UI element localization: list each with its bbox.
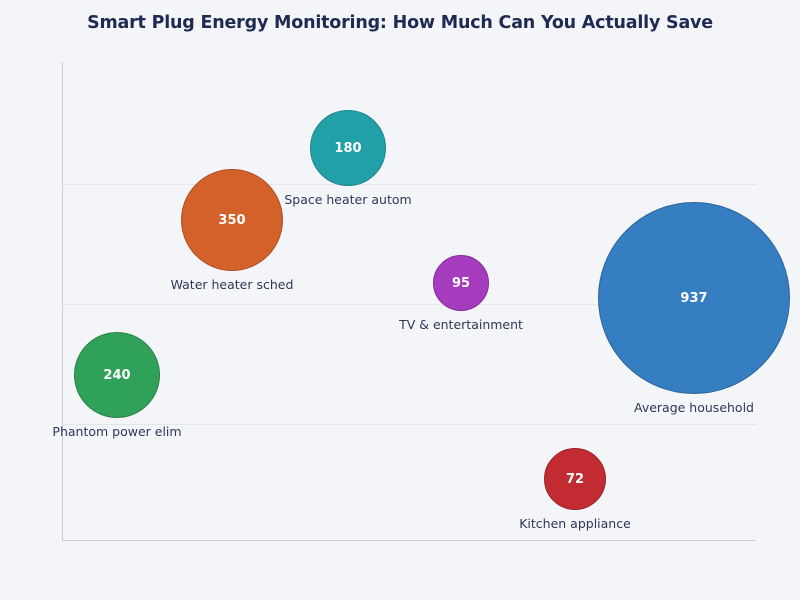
bubble[interactable]: 72	[544, 448, 606, 510]
bubble-value: 240	[103, 369, 130, 382]
bubble-chart: Smart Plug Energy Monitoring: How Much C…	[0, 0, 800, 600]
bubble[interactable]: 180	[310, 110, 386, 186]
bubble[interactable]: 95	[433, 255, 489, 311]
bubble-value: 180	[334, 142, 361, 155]
bubble-value: 95	[452, 277, 470, 290]
gridline	[62, 184, 756, 185]
bubble[interactable]: 350	[181, 169, 283, 271]
bubble-label: Kitchen appliance	[519, 516, 631, 531]
bubble-value: 937	[680, 292, 707, 305]
bubble[interactable]: 240	[74, 332, 160, 418]
bubble[interactable]: 937	[598, 202, 790, 394]
bubble-label: Average household	[634, 400, 754, 415]
bubble-value: 350	[218, 214, 245, 227]
chart-title: Smart Plug Energy Monitoring: How Much C…	[0, 13, 800, 33]
bubble-label: Water heater sched	[171, 277, 294, 292]
y-axis-spine	[62, 62, 63, 541]
bubble-value: 72	[566, 473, 584, 486]
bubble-label: TV & entertainment	[399, 317, 523, 332]
x-axis-spine	[62, 540, 756, 541]
bubble-label: Phantom power elim	[52, 424, 181, 439]
bubble-label: Space heater autom	[284, 192, 411, 207]
